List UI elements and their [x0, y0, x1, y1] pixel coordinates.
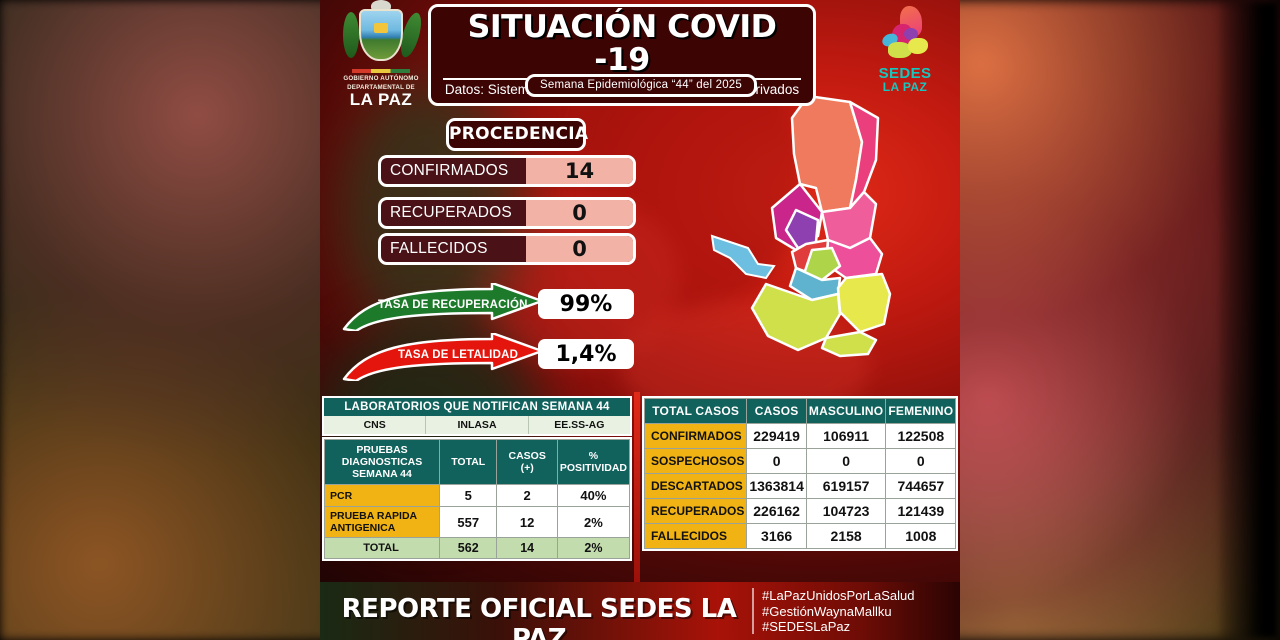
procedencia-row-fallecidos: FALLECIDOS 0 — [378, 233, 636, 265]
total-cases-table: TOTAL CASOS CASOS MASCULINO FEMENINO CON… — [642, 396, 958, 551]
table-row-total: TOTAL 562 14 2% — [325, 538, 630, 559]
total-cell-casos: 1363814 — [747, 474, 807, 499]
lab-item-inlasa: INLASA — [426, 416, 528, 434]
total-col-femenino: FEMENINO — [886, 399, 956, 424]
table-header-row: TOTAL CASOS CASOS MASCULINO FEMENINO — [645, 399, 956, 424]
diag-cell-total: 562 — [440, 538, 497, 559]
diag-cell-total: 557 — [440, 507, 497, 538]
diag-row-label-total: TOTAL — [325, 538, 440, 559]
poster-footer: REPORTE OFICIAL SEDES LA PAZ #LaPazUnido… — [320, 582, 960, 640]
sun-icon — [374, 23, 388, 33]
diag-col-pruebas-l1: PRUEBAS — [327, 444, 437, 456]
page-title: SITUACIÓN COVID -19 — [435, 11, 808, 77]
la-paz-department-map — [700, 88, 940, 388]
diag-col-pruebas-l2: DIAGNOSTICAS — [327, 456, 437, 468]
gad-logo-line1: GOBIERNO AUTÓNOMO — [336, 75, 426, 82]
infographic-root: GOBIERNO AUTÓNOMO DEPARTAMENTAL DE LA PA… — [0, 0, 1280, 640]
table-header-row: PRUEBAS DIAGNOSTICAS SEMANA 44 TOTAL CAS… — [325, 440, 630, 485]
sedes-map-icon — [874, 6, 936, 64]
hashtag-1: #LaPazUnidosPorLaSalud — [762, 588, 915, 604]
total-cell-casos: 3166 — [747, 524, 807, 549]
recovery-rate-value: 99% — [538, 289, 634, 319]
map-region-south — [822, 332, 876, 356]
total-cell-masculino: 619157 — [806, 474, 885, 499]
table-divider — [634, 392, 640, 584]
total-col-casos: CASOS — [747, 399, 807, 424]
diag-col-pruebas: PRUEBAS DIAGNOSTICAS SEMANA 44 — [325, 440, 440, 485]
map-svg — [700, 88, 940, 388]
sedes-la-paz-logo: SEDES LA PAZ — [864, 6, 946, 98]
total-cell-femenino: 0 — [886, 449, 956, 474]
procedencia-value: 0 — [526, 236, 633, 262]
labs-table: LABORATORIOS QUE NOTIFICAN SEMANA 44 CNS… — [322, 396, 632, 436]
sedes-logo-line2: LA PAZ — [864, 81, 946, 93]
procedencia-row-confirmados: CONFIRMADOS 14 — [378, 155, 636, 187]
diag-col-casos-l2: (+) — [499, 462, 554, 474]
table-row: FALLECIDOS 3166 2158 1008 — [645, 524, 956, 549]
sedes-map-shape — [908, 38, 928, 54]
diag-cell-positivity: 2% — [557, 538, 629, 559]
procedencia-label: CONFIRMADOS — [381, 158, 526, 184]
sedes-logo-line1: SEDES — [864, 66, 946, 81]
total-cell-masculino: 2158 — [806, 524, 885, 549]
diag-col-casos-l1: CASOS — [499, 450, 554, 462]
total-row-label-confirmados: CONFIRMADOS — [645, 424, 747, 449]
total-cell-casos: 229419 — [747, 424, 807, 449]
diag-col-pruebas-l3: SEMANA 44 — [327, 468, 437, 480]
table-row: RECUPERADOS 226162 104723 121439 — [645, 499, 956, 524]
procedencia-value: 14 — [526, 158, 633, 184]
table-row: PCR 5 2 40% — [325, 485, 630, 507]
fatality-rate-value: 1,4% — [538, 339, 634, 369]
coat-of-arms-icon — [336, 6, 426, 68]
table-row: CONFIRMADOS 229419 106911 122508 — [645, 424, 956, 449]
gad-logo-line3: LA PAZ — [336, 91, 426, 108]
diag-cell-positive: 14 — [497, 538, 557, 559]
hashtag-2: #GestiónWaynaMallku — [762, 604, 915, 620]
footer-divider — [752, 588, 754, 634]
diagnostics-table: PRUEBAS DIAGNOSTICAS SEMANA 44 TOTAL CAS… — [322, 437, 632, 561]
diag-cell-positive: 12 — [497, 507, 557, 538]
backdrop-left — [0, 0, 330, 640]
backdrop-right-edge — [1220, 0, 1280, 640]
diag-col-positividad-l1: % — [560, 450, 627, 462]
diag-cell-positive: 2 — [497, 485, 557, 507]
laurel-left-icon — [343, 12, 359, 58]
diag-row-label-pcr: PCR — [325, 485, 440, 507]
diag-col-total: TOTAL — [440, 440, 497, 485]
total-row-label-descartados: DESCARTADOS — [645, 474, 747, 499]
map-lake-titicaca — [712, 236, 774, 278]
lab-item-cns: CNS — [324, 416, 426, 434]
epidemiological-week-badge: Semana Epidemiológica “44” del 2025 — [525, 74, 757, 97]
total-cell-masculino: 104723 — [806, 499, 885, 524]
poster-panel: GOBIERNO AUTÓNOMO DEPARTAMENTAL DE LA PA… — [320, 0, 960, 640]
bolivia-ribbon-icon — [352, 69, 410, 73]
total-row-label-recuperados: RECUPERADOS — [645, 499, 747, 524]
fatality-rate-label: TASA DE LETALIDAD — [398, 349, 518, 361]
map-region-yellow — [838, 274, 890, 332]
hashtag-3: #SEDESLaPaz — [762, 619, 915, 635]
footer-hashtags: #LaPazUnidosPorLaSalud #GestiónWaynaMall… — [762, 588, 915, 635]
procedencia-title: PROCEDENCIA — [446, 118, 586, 151]
table-row: DESCARTADOS 1363814 619157 744657 — [645, 474, 956, 499]
procedencia-value: 0 — [526, 200, 633, 226]
total-cell-casos: 0 — [747, 449, 807, 474]
diag-col-casos: CASOS (+) — [497, 440, 557, 485]
procedencia-row-recuperados: RECUPERADOS 0 — [378, 197, 636, 229]
lab-item-eessag: EE.SS-AG — [529, 416, 630, 434]
labs-table-title: LABORATORIOS QUE NOTIFICAN SEMANA 44 — [324, 398, 630, 416]
total-cell-femenino: 122508 — [886, 424, 956, 449]
procedencia-label: FALLECIDOS — [381, 236, 526, 262]
diag-col-positividad-l2: POSITIVIDAD — [560, 462, 627, 474]
total-row-label-sospechosos: SOSPECHOSOS — [645, 449, 747, 474]
shield-icon — [359, 9, 403, 61]
total-col-masculino: MASCULINO — [806, 399, 885, 424]
diag-col-positividad: % POSITIVIDAD — [557, 440, 629, 485]
total-col-label: TOTAL CASOS — [645, 399, 747, 424]
total-cell-masculino: 106911 — [806, 424, 885, 449]
total-cell-femenino: 121439 — [886, 499, 956, 524]
gad-la-paz-logo: GOBIERNO AUTÓNOMO DEPARTAMENTAL DE LA PA… — [336, 6, 426, 101]
labs-table-row: CNS INLASA EE.SS-AG — [324, 416, 630, 434]
total-cell-femenino: 744657 — [886, 474, 956, 499]
total-row-label-fallecidos: FALLECIDOS — [645, 524, 747, 549]
footer-title: REPORTE OFICIAL SEDES LA PAZ — [330, 594, 748, 640]
diag-cell-positivity: 2% — [557, 507, 629, 538]
procedencia-label: RECUPERADOS — [381, 200, 526, 226]
diag-row-label-rapida: PRUEBA RAPIDA ANTIGENICA — [325, 507, 440, 538]
recovery-rate-label: TASA DE RECUPERACIÓN — [378, 299, 528, 311]
diag-cell-positivity: 40% — [557, 485, 629, 507]
total-cell-casos: 226162 — [747, 499, 807, 524]
diag-cell-total: 5 — [440, 485, 497, 507]
poster-header: GOBIERNO AUTÓNOMO DEPARTAMENTAL DE LA PA… — [320, 0, 960, 102]
total-cell-masculino: 0 — [806, 449, 885, 474]
table-row: PRUEBA RAPIDA ANTIGENICA 557 12 2% — [325, 507, 630, 538]
table-row: SOSPECHOSOS 0 0 0 — [645, 449, 956, 474]
total-cell-femenino: 1008 — [886, 524, 956, 549]
